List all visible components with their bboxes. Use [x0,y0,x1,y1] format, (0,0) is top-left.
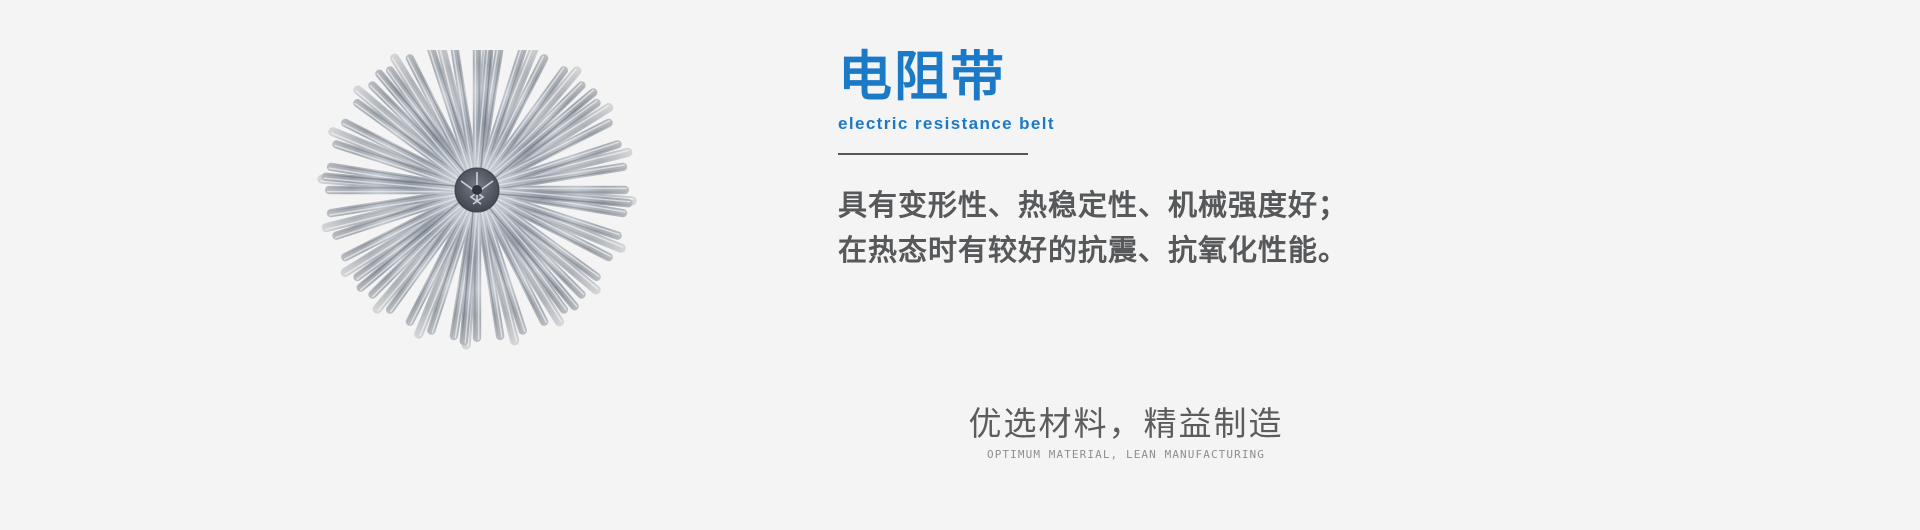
product-description: 具有变形性、热稳定性、机械强度好； 在热态时有较好的抗震、抗氧化性能。 [838,183,1538,273]
title-divider [838,153,1028,155]
tagline-block: 优选材料，精益制造 OPTIMUM MATERIAL, LEAN MANUFAC… [955,404,1297,462]
product-banner: 电阻带 electric resistance belt 具有变形性、热稳定性、… [0,0,1920,530]
banner-text-column: 电阻带 electric resistance belt 具有变形性、热稳定性、… [838,46,1538,273]
tagline-english: OPTIMUM MATERIAL, LEAN MANUFACTURING [955,448,1297,462]
description-line-2: 在热态时有较好的抗震、抗氧化性能。 [838,228,1538,273]
tagline-chinese: 优选材料，精益制造 [955,404,1297,444]
description-line-1: 具有变形性、热稳定性、机械强度好； [838,183,1538,228]
product-image [296,50,658,375]
page-title: 电阻带 [838,46,1538,108]
page-subtitle: electric resistance belt [838,114,1538,134]
